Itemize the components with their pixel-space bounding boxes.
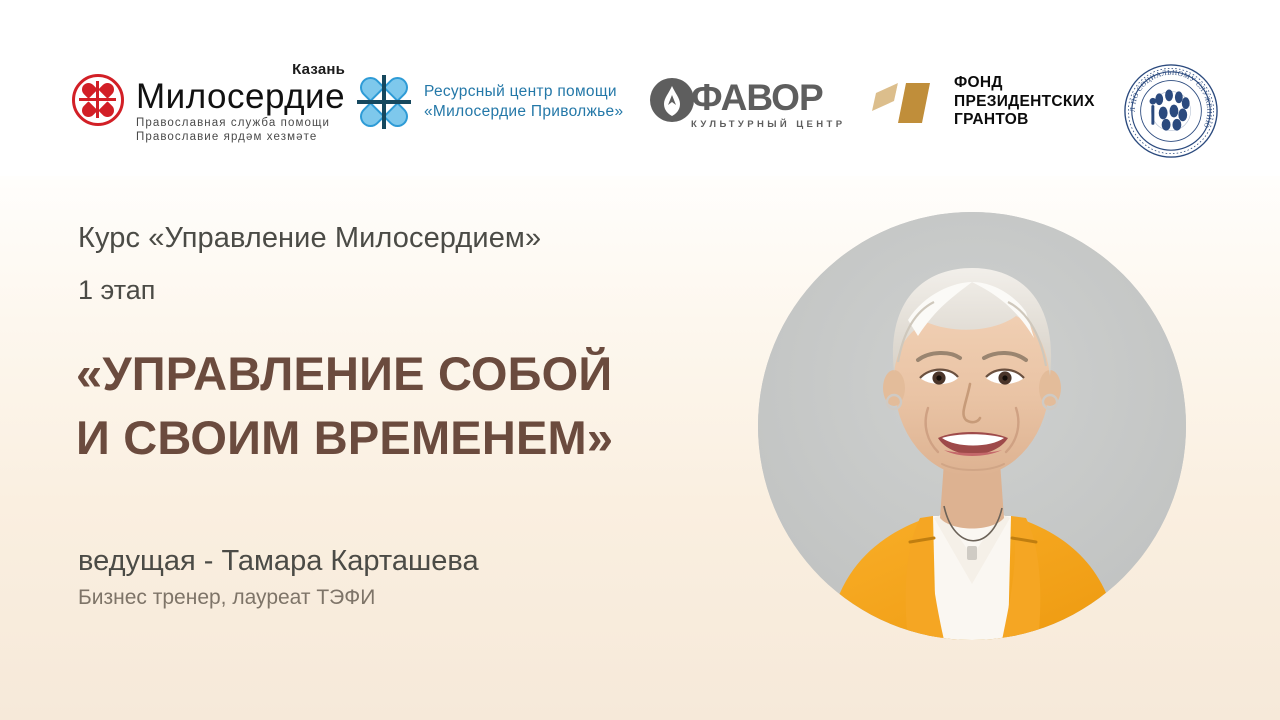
- title-line-1: «УПРАВЛЕНИЕ СОБОЙ: [76, 342, 736, 406]
- social-service-seal-icon: ОТДЕЛ ПО СОЦИАЛЬНОМУ СЛУЖЕНИЮ: [1122, 62, 1220, 160]
- title-line-2: И СВОИМ ВРЕМЕНЕМ»: [76, 406, 736, 470]
- resource-center-clover-icon: [356, 74, 412, 130]
- logo-social-service-department: ОТДЕЛ ПО СОЦИАЛЬНОМУ СЛУЖЕНИЮ: [1122, 62, 1220, 160]
- sponsor-logo-strip: Казань Милосердие Православная служба по…: [0, 0, 1280, 176]
- logo-resource-center-privolzhye: Ресурсный центр помощи «Милосердие Приво…: [356, 74, 623, 130]
- page-title: «УПРАВЛЕНИЕ СОБОЙ И СВОИМ ВРЕМЕНЕМ»: [76, 342, 736, 470]
- presidential-grants-wordmark: ФОНД ПРЕЗИДЕНТСКИХ ГРАНТОВ: [954, 74, 1095, 130]
- presenter-portrait: [758, 212, 1186, 640]
- resource-center-wordmark: Ресурсный центр помощи «Милосердие Приво…: [424, 82, 623, 122]
- course-stage: 1 этап: [78, 275, 155, 306]
- miloserdie-subtitle-ru: Православная служба помощи: [136, 116, 345, 130]
- miloserdie-city: Казань: [136, 62, 345, 78]
- host-name: ведущая - Тамара Карташева: [78, 545, 479, 578]
- grants-line3: ГРАНТОВ: [954, 111, 1095, 130]
- miloserdie-cross-hearts-icon: [72, 74, 124, 126]
- host-credentials: Бизнес тренер, лауреат ТЭФИ: [78, 586, 375, 610]
- presidential-grants-parallelogram-icon: [872, 77, 940, 127]
- course-name: Курс «Управление Милосердием»: [78, 222, 541, 255]
- grants-line1: ФОНД: [954, 74, 1095, 93]
- favor-title: ФАВОР: [691, 78, 845, 118]
- logo-miloserdie-kazan: Казань Милосердие Православная служба по…: [72, 62, 345, 144]
- logo-presidential-grants-fund: ФОНД ПРЕЗИДЕНТСКИХ ГРАНТОВ: [872, 74, 1095, 130]
- resource-center-line1: Ресурсный центр помощи: [424, 82, 623, 102]
- miloserdie-subtitle-tt: Православие ярдәм хезмәте: [136, 130, 345, 144]
- miloserdie-wordmark: Казань Милосердие Православная служба по…: [136, 62, 345, 144]
- resource-center-line2: «Милосердие Приволжье»: [424, 102, 623, 122]
- presentation-slide: Казань Милосердие Православная служба по…: [0, 0, 1280, 720]
- favor-wordmark: ФАВОР КУЛЬТУРНЫЙ ЦЕНТР: [691, 78, 845, 131]
- grants-line2: ПРЕЗИДЕНТСКИХ: [954, 93, 1095, 112]
- favor-subtitle: КУЛЬТУРНЫЙ ЦЕНТР: [691, 118, 845, 131]
- favor-flame-arrow-icon: [650, 78, 694, 122]
- miloserdie-title: Милосердие: [136, 78, 345, 116]
- logo-favor-cultural-center: ФАВОР КУЛЬТУРНЫЙ ЦЕНТР: [650, 78, 845, 131]
